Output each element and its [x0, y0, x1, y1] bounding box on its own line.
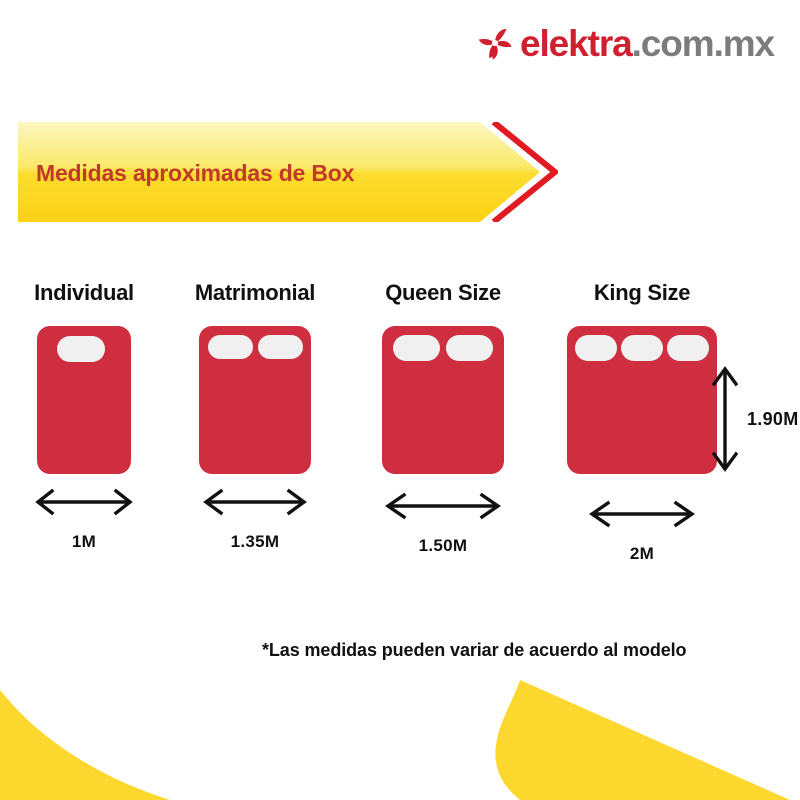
- bed-size-group: Individual 1M Matrimonial: [0, 282, 800, 582]
- brand-domain-text: .com.mx: [632, 23, 774, 64]
- measurements-footnote: *Las medidas pueden variar de acuerdo al…: [262, 640, 686, 661]
- bed-title-queen: Queen Size: [363, 282, 523, 304]
- brand-name-text: elektra: [520, 23, 632, 64]
- width-label-queen: 1.50M: [363, 536, 523, 556]
- height-dimension-king: 1.90M: [712, 364, 799, 474]
- width-dimension-matrimonial: [171, 488, 339, 534]
- pillow-icon: [667, 335, 709, 361]
- width-label-matrimonial: 1.35M: [171, 532, 339, 552]
- infographic-canvas: elektra.com.mx Medidas aproximadas de Bo…: [0, 0, 800, 800]
- bed-card-queen[interactable]: Queen Size 1.50M: [363, 282, 523, 556]
- pillow-icon: [393, 335, 440, 361]
- pillow-icon: [446, 335, 493, 361]
- width-label-king: 2M: [546, 544, 738, 564]
- double-arrow-icon: [586, 500, 698, 528]
- elektra-pinwheel-icon: [478, 26, 512, 60]
- pillow-icon: [57, 336, 105, 362]
- double-arrow-icon: [32, 488, 136, 516]
- brand-logo[interactable]: elektra.com.mx: [478, 20, 774, 66]
- brand-wordmark: elektra.com.mx: [520, 25, 774, 62]
- pillow-icon: [621, 335, 663, 361]
- bed-card-matrimonial[interactable]: Matrimonial 1.35M: [171, 282, 339, 552]
- pillow-icon: [575, 335, 617, 361]
- bottom-left-wedge-shape: [0, 690, 170, 800]
- pillow-icon: [258, 335, 303, 359]
- bottom-right-triangle-shape: [495, 680, 790, 800]
- banner-arrow: Medidas aproximadas de Box: [18, 122, 558, 222]
- pillow-icon: [208, 335, 253, 359]
- vertical-double-arrow-icon: [712, 364, 738, 474]
- bed-title-king: King Size: [546, 282, 738, 304]
- width-dimension-queen: [363, 492, 523, 538]
- height-label-king: 1.90M: [747, 409, 799, 430]
- width-dimension-king: [546, 500, 738, 546]
- banner-title: Medidas aproximadas de Box: [36, 160, 354, 187]
- double-arrow-icon: [382, 492, 504, 520]
- bed-title-matrimonial: Matrimonial: [171, 282, 339, 304]
- bed-card-individual[interactable]: Individual 1M: [10, 282, 158, 552]
- width-dimension-individual: [10, 488, 158, 534]
- width-label-individual: 1M: [10, 532, 158, 552]
- mattress-individual: [37, 326, 131, 474]
- double-arrow-icon: [200, 488, 310, 516]
- mattress-matrimonial: [199, 326, 311, 474]
- bed-title-individual: Individual: [10, 282, 158, 304]
- mattress-king: [567, 326, 717, 474]
- bed-card-king[interactable]: King Size 2M: [546, 282, 738, 564]
- mattress-queen: [382, 326, 504, 474]
